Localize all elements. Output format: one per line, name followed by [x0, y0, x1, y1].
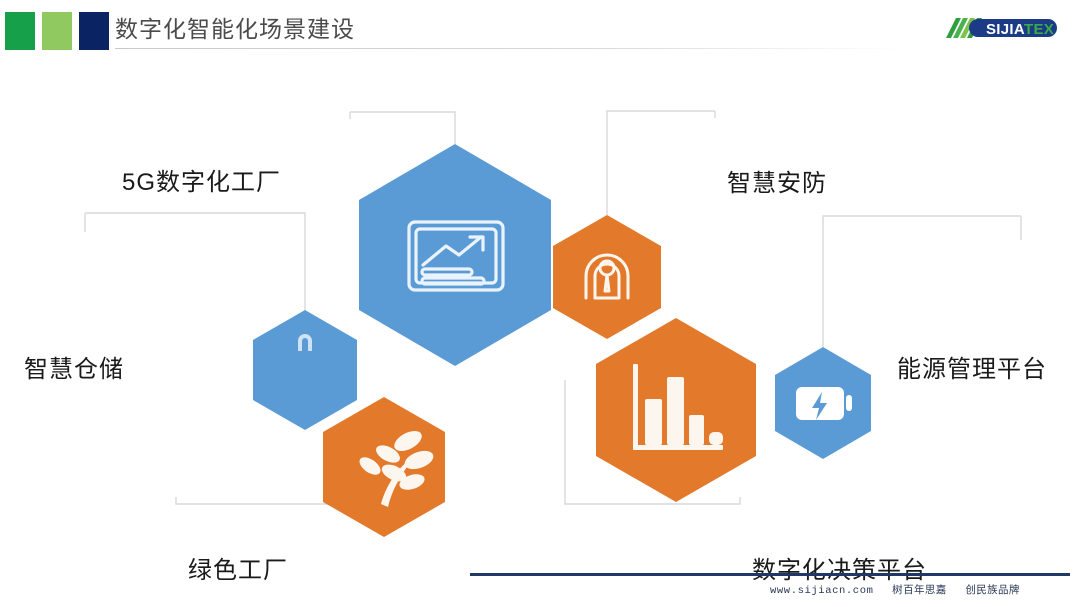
header-divider	[115, 48, 905, 49]
swatch-light-green	[42, 12, 72, 50]
label-smart-warehouse: 智慧仓储	[24, 349, 124, 384]
connector-smart-warehouse	[85, 213, 305, 310]
hex-energy-platform	[775, 347, 871, 459]
label-green-factory: 绿色工厂	[188, 550, 288, 585]
footer-slogan-2: 创民族品牌	[965, 584, 1020, 596]
logo-text-secondary: TEX	[1024, 21, 1054, 38]
sijiatex-logo: SIJIA TEX	[942, 12, 1060, 46]
slide-header: 数字化智能化场景建设 SIJIA TEX	[0, 0, 1080, 62]
label-smart-security: 智慧安防	[727, 163, 827, 198]
hex-green-factory	[323, 397, 445, 537]
connector-energy-platform	[823, 216, 1021, 347]
logo-text-primary: SIJIA	[986, 21, 1025, 38]
hex-factory-5g	[359, 144, 551, 366]
footer-text: www.sijiacn.com 树百年思嘉 创民族品牌	[770, 582, 1020, 597]
swatch-green	[5, 12, 35, 50]
hex-smart-warehouse	[253, 310, 357, 430]
hex-smart-security	[553, 215, 661, 339]
connector-smart-security	[607, 111, 715, 215]
battery-charge-icon	[796, 387, 852, 420]
label-factory-5g: 5G数字化工厂	[122, 162, 281, 197]
label-decision-platform: 数字化决策平台	[752, 550, 927, 585]
diagram-canvas: 5G数字化工厂 智慧仓储 智慧安防 绿色工厂 数字化决策平台 能源管理平台	[0, 62, 1080, 562]
footer-slogan-1: 树百年思嘉	[892, 584, 947, 596]
footer-divider	[470, 573, 1070, 576]
footer-url: www.sijiacn.com	[770, 585, 874, 597]
swatch-navy	[79, 12, 109, 50]
slide-root: 数字化智能化场景建设 SIJIA TEX	[0, 0, 1080, 607]
label-energy-platform: 能源管理平台	[897, 349, 1047, 384]
connector-factory-5g	[350, 112, 455, 144]
hex-decision-platform	[596, 318, 756, 502]
page-title: 数字化智能化场景建设	[115, 10, 355, 44]
